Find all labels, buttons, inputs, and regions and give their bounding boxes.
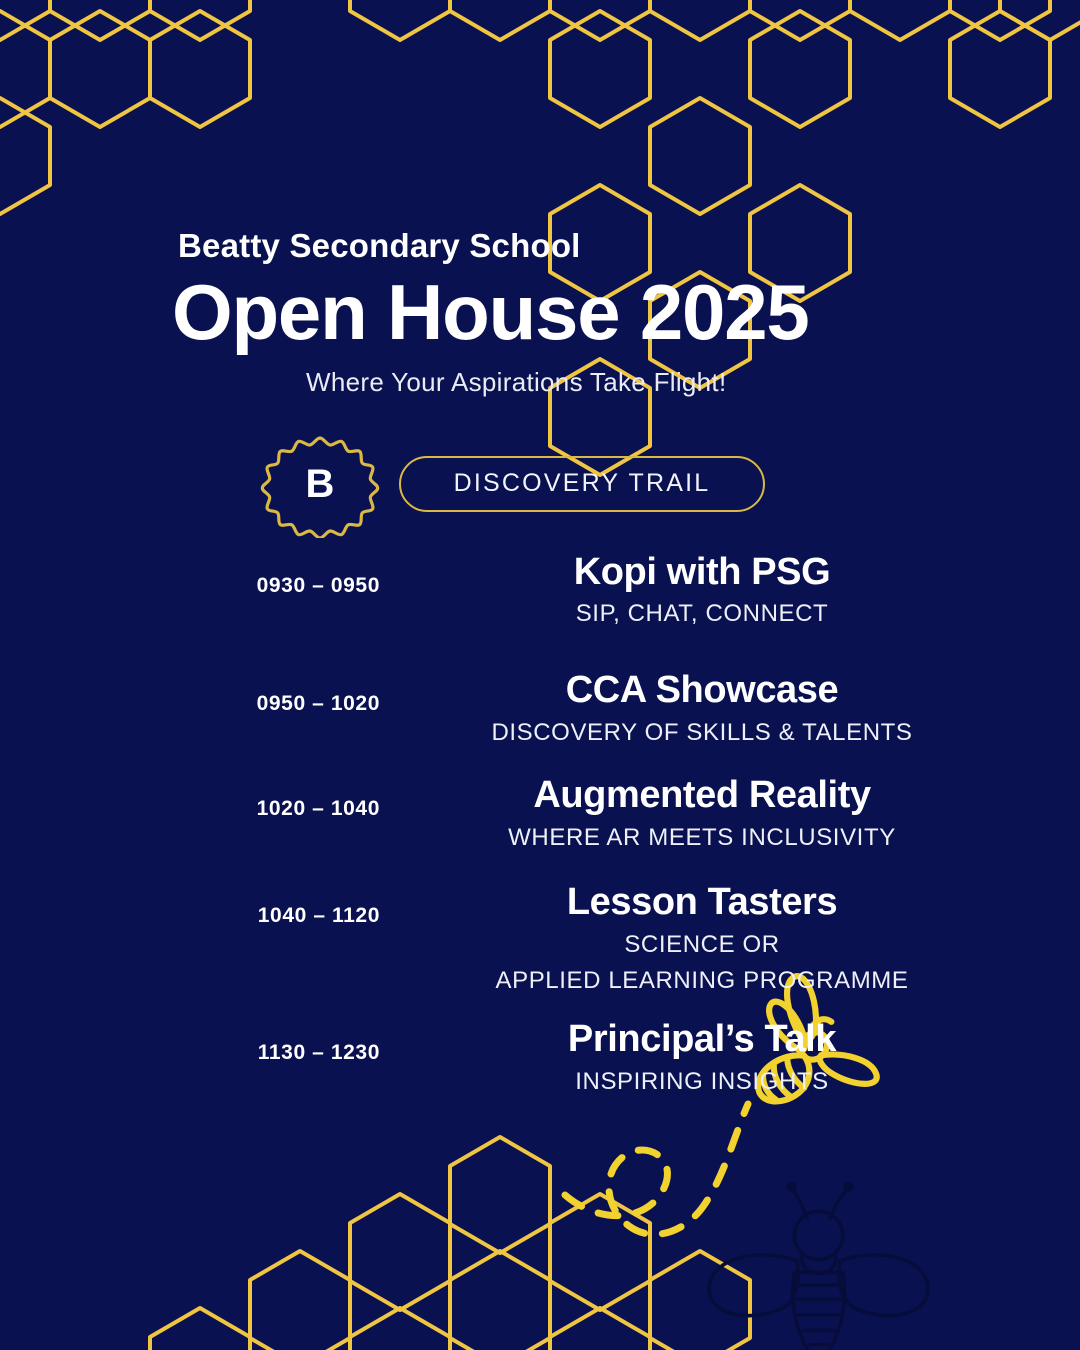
poster-canvas: Beatty Secondary School Open House 2025 … — [0, 0, 1080, 1350]
list-item: 0950 – 1020 CCA Showcase DISCOVERY OF SK… — [0, 692, 1080, 751]
schedule-subtitle-line: DISCOVERY OF SKILLS & TALENTS — [380, 715, 1024, 751]
schedule-body: Augmented Reality WHERE AR MEETS INCLUSI… — [380, 773, 1080, 856]
schedule-subtitle-line: SCIENCE OR — [380, 927, 1024, 963]
schedule-title: Augmented Reality — [380, 773, 1024, 818]
schedule-title: Principal’s Talk — [380, 1017, 1024, 1062]
poster-content: Beatty Secondary School Open House 2025 … — [0, 0, 1080, 1100]
schedule-subtitle: WHERE AR MEETS INCLUSIVITY — [380, 820, 1024, 856]
schedule-subtitle: SCIENCE OR APPLIED LEARNING PROGRAMME — [380, 927, 1024, 999]
schedule-time: 1130 – 1230 — [0, 1041, 380, 1065]
badge-letter: B — [257, 434, 383, 538]
list-item: 1040 – 1120 Lesson Tasters SCIENCE OR AP… — [0, 904, 1080, 999]
schedule-subtitle: SIP, CHAT, CONNECT — [380, 596, 1024, 632]
header-block: Beatty Secondary School Open House 2025 … — [0, 0, 1080, 398]
discovery-trail-pill[interactable]: DISCOVERY TRAIL — [399, 456, 765, 512]
list-item: 1130 – 1230 Principal’s Talk INSPIRING I… — [0, 1041, 1080, 1100]
list-item: 1020 – 1040 Augmented Reality WHERE AR M… — [0, 797, 1080, 856]
schedule-title: CCA Showcase — [380, 668, 1024, 713]
schedule-time: 0950 – 1020 — [0, 692, 380, 716]
schedule-body: CCA Showcase DISCOVERY OF SKILLS & TALEN… — [380, 668, 1080, 751]
schedule-subtitle-line: SIP, CHAT, CONNECT — [380, 596, 1024, 632]
schedule-subtitle-line: INSPIRING INSIGHTS — [380, 1064, 1024, 1100]
schedule-body: Principal’s Talk INSPIRING INSIGHTS — [380, 1017, 1080, 1100]
b-badge: B — [257, 434, 383, 538]
list-item: 0930 – 0950 Kopi with PSG SIP, CHAT, CON… — [0, 574, 1080, 633]
schedule-time: 1020 – 1040 — [0, 797, 380, 821]
schedule-subtitle: DISCOVERY OF SKILLS & TALENTS — [380, 715, 1024, 751]
schedule-body: Kopi with PSG SIP, CHAT, CONNECT — [380, 550, 1080, 633]
schedule-time: 0930 – 0950 — [0, 574, 380, 598]
schedule-subtitle: INSPIRING INSIGHTS — [380, 1064, 1024, 1100]
page-title: Open House 2025 — [172, 270, 1080, 354]
schedule-time: 1040 – 1120 — [0, 904, 380, 928]
schedule-title: Kopi with PSG — [380, 550, 1024, 595]
school-name: Beatty Secondary School — [178, 228, 1080, 264]
schedule-title: Lesson Tasters — [380, 880, 1024, 925]
discovery-trail-label: DISCOVERY TRAIL — [454, 469, 711, 498]
schedule-body: Lesson Tasters SCIENCE OR APPLIED LEARNI… — [380, 880, 1080, 999]
schedule-list: 0930 – 0950 Kopi with PSG SIP, CHAT, CON… — [0, 574, 1080, 1100]
badge-row: B DISCOVERY TRAIL — [0, 434, 1080, 534]
schedule-subtitle-line: WHERE AR MEETS INCLUSIVITY — [380, 820, 1024, 856]
tagline: Where Your Aspirations Take Flight! — [306, 367, 1080, 398]
schedule-subtitle-line: APPLIED LEARNING PROGRAMME — [380, 963, 1024, 999]
